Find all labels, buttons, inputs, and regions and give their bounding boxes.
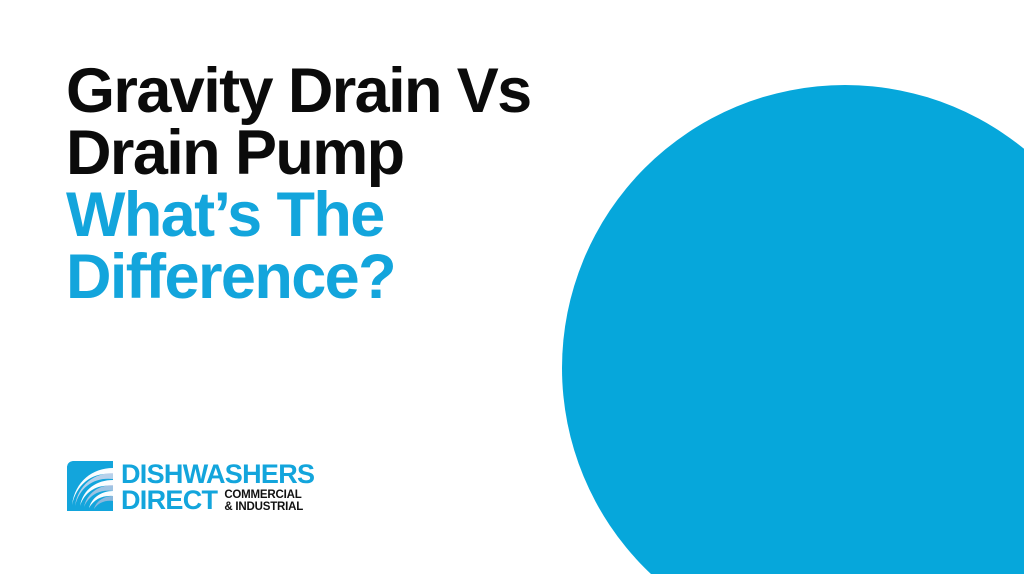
wave-swoosh-icon bbox=[67, 461, 113, 511]
logo-tagline-line-2: & INDUSTRIAL bbox=[224, 501, 303, 513]
headline-line-2: Drain Pump bbox=[66, 122, 606, 184]
banner-canvas: Gravity Drain Vs Drain Pump What’s The D… bbox=[0, 0, 1024, 574]
brand-logo[interactable]: DISHWASHERS DIRECT COMMERCIAL & INDUSTRI… bbox=[67, 461, 314, 513]
logo-name-line-1: DISHWASHERS bbox=[121, 462, 314, 487]
headline-line-3: What’s The bbox=[66, 184, 606, 246]
logo-wordmark: DISHWASHERS DIRECT COMMERCIAL & INDUSTRI… bbox=[121, 461, 314, 513]
logo-tagline-line-1: COMMERCIAL bbox=[224, 489, 303, 501]
logo-tagline: COMMERCIAL & INDUSTRIAL bbox=[224, 488, 303, 513]
logo-bottom-row: DIRECT COMMERCIAL & INDUSTRIAL bbox=[121, 488, 314, 513]
headline-line-1: Gravity Drain Vs bbox=[66, 60, 606, 122]
headline-line-4: Difference? bbox=[66, 246, 606, 308]
decorative-blue-circle bbox=[562, 85, 1024, 574]
page-title: Gravity Drain Vs Drain Pump What’s The D… bbox=[66, 60, 606, 308]
logo-name-line-2: DIRECT bbox=[121, 488, 217, 513]
